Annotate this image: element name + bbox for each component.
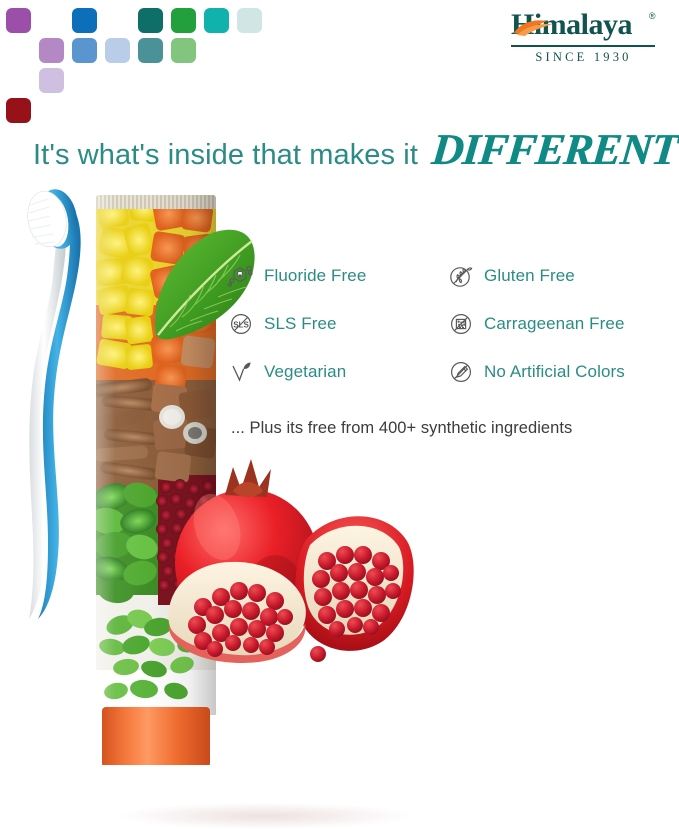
svg-text:SLS: SLS [233,320,249,329]
vegetarian-leaf-icon [228,359,254,385]
artificial-colors-crossed-icon [448,359,474,385]
logo-divider [511,45,655,47]
color-swatch [171,8,196,33]
feature-label: SLS Free [264,314,337,334]
color-swatch [72,38,97,63]
registered-trademark-icon: ® [649,12,655,21]
feature-label: Carrageenan Free [484,314,625,334]
blue-white-toothbrush [18,183,108,623]
feature-item: Carrageenan Free [448,300,668,348]
color-swatch [171,38,196,63]
tube-crimp-seal [96,195,216,209]
feature-label: No Artificial Colors [484,362,625,382]
tooth-hexagon-icon [228,263,254,289]
swatch-spacer [6,38,31,63]
swatch-spacer [171,68,196,93]
swatch-spacer [105,98,130,123]
feature-column-left: Fluoride FreeSLSSLS FreeVegetarian [228,252,448,396]
feature-label: Fluoride Free [264,266,366,286]
color-swatch [237,8,262,33]
swatch-spacer [204,38,229,63]
feature-item: Gluten Free [448,252,668,300]
swatch-spacer [39,8,64,33]
sls-crossed-icon: SLS [228,311,254,337]
swatch-spacer [39,98,64,123]
color-swatch [39,38,64,63]
color-swatch [204,8,229,33]
single-aril [310,646,326,662]
swatch-row [6,38,262,63]
wheat-crossed-icon [448,263,474,289]
swatch-row [6,68,262,93]
feature-label: Vegetarian [264,362,346,382]
swatch-spacer [237,68,262,93]
footnote-text: ... Plus its free from 400+ synthetic in… [231,419,572,438]
color-swatch [6,98,31,123]
swatch-spacer [105,68,130,93]
color-swatch [138,38,163,63]
headline-accent-text: DIFFERENT [429,124,679,175]
feature-label: Gluten Free [484,266,575,286]
feature-list: Fluoride FreeSLSSLS FreeVegetarian Glute… [228,252,668,396]
swatch-spacer [171,98,196,123]
swatch-spacer [138,98,163,123]
swatch-spacer [72,98,97,123]
color-swatch-grid [6,8,262,128]
himalaya-logo: Himalaya ® SINCE 1930 [507,10,657,65]
swatch-spacer [72,68,97,93]
logo-wordmark-row: Himalaya ® [507,10,657,44]
feature-item: SLSSLS Free [228,300,448,348]
swatch-row [6,98,262,123]
ground-shadow [120,803,410,829]
swatch-spacer [204,98,229,123]
feature-item: Fluoride Free [228,252,448,300]
swatch-spacer [237,38,262,63]
color-swatch [39,68,64,93]
swatch-spacer [6,68,31,93]
color-swatch [138,8,163,33]
swatch-spacer [237,98,262,123]
swatch-spacer [138,68,163,93]
tube-cap [102,707,210,765]
feature-item: Vegetarian [228,348,448,396]
carrageenan-crossed-icon [448,311,474,337]
logo-wordmark-text: Himalaya [511,8,632,41]
color-swatch [105,38,130,63]
swatch-spacer [204,68,229,93]
headline-plain-text: It's what's inside that makes it [33,139,418,172]
headline: It's what's inside that makes it DIFFERE… [33,124,653,174]
pomegranate-fruit [155,445,420,670]
swatch-row [6,8,262,33]
color-swatch [72,8,97,33]
feature-item: No Artificial Colors [448,348,668,396]
feature-column-right: Gluten FreeCarrageenan FreeNo Artificial… [448,252,668,396]
swatch-spacer [105,8,130,33]
pomegranate-half-right [295,516,413,651]
logo-since-text: SINCE 1930 [507,50,657,65]
color-swatch [6,8,31,33]
